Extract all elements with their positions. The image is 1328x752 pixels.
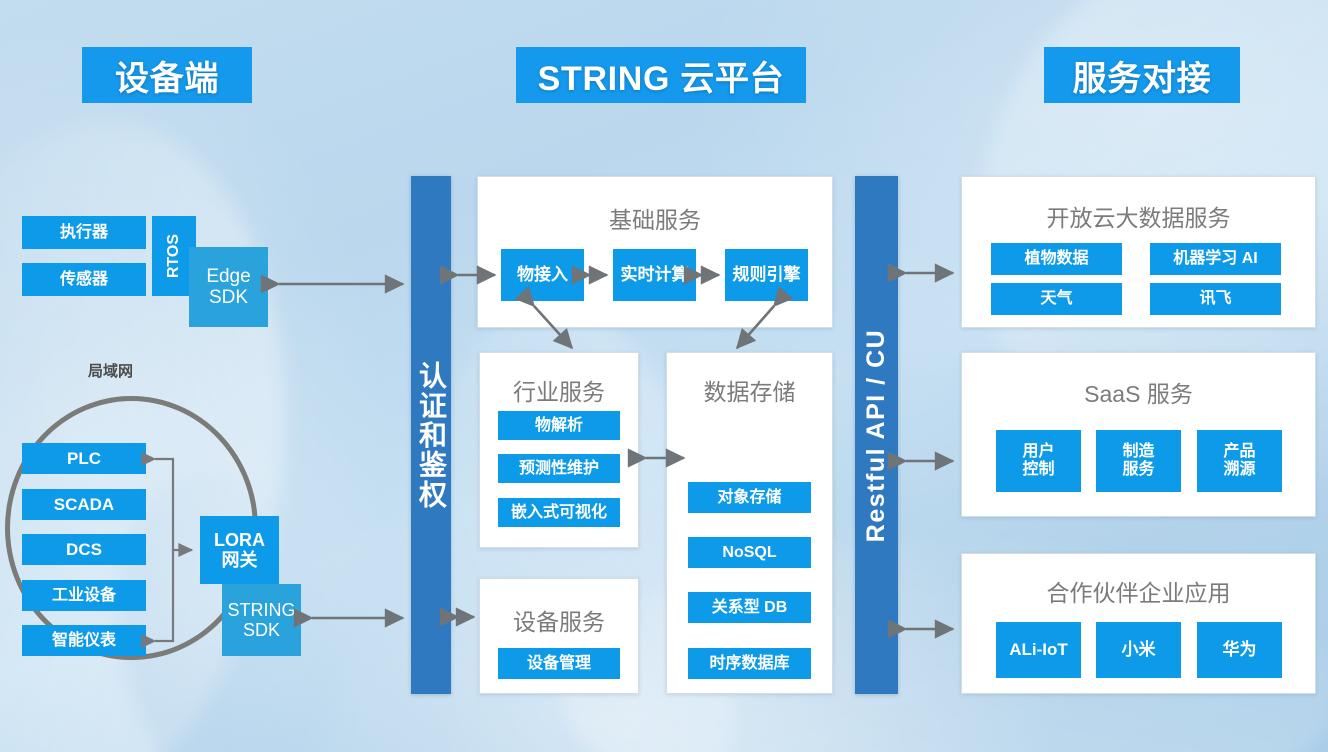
panel-partner-apps-title: 合作伙伴企业应用 [962,574,1315,608]
industry-box-thing-parsing[interactable]: 物解析 [498,411,620,440]
saas-manufacturing-line2: 服务 [1122,461,1154,479]
service-box-realtime-compute[interactable]: 实时计算 [613,249,696,301]
lora-gateway-label-line2: 网关 [222,550,258,570]
lan-label: 局域网 [88,360,133,381]
storage-box-object-storage[interactable]: 对象存储 [688,482,811,513]
diagram-canvas: 设备端 STRING 云平台 服务对接 执行器 传感器 RTOS Edge SD… [0,0,1328,752]
storage-box-relational-db[interactable]: 关系型 DB [688,592,811,623]
header-device-side: 设备端 [82,47,252,103]
lora-gateway-label-line1: LORA [214,530,265,550]
header-cloud-platform: STRING 云平台 [516,47,806,103]
restful-api-bar-label: Restful API / CU [862,328,891,541]
device-box-dcs[interactable]: DCS [22,534,146,565]
saas-user-control-line2: 控制 [1022,461,1054,479]
restful-api-bar[interactable]: Restful API / CU [855,176,898,694]
auth-bar[interactable]: 认证和鉴权 [411,176,451,694]
saas-box-product-traceability[interactable]: 产品 溯源 [1197,430,1282,492]
partner-box-ali-iot[interactable]: ALi-IoT [996,622,1081,678]
panel-device-services-title: 设备服务 [480,603,638,637]
device-box-string-sdk[interactable]: STRING SDK [222,584,301,656]
auth-bar-label: 认证和鉴权 [411,361,451,509]
saas-traceability-line1: 产品 [1223,443,1255,461]
device-box-lora-gateway[interactable]: LORA 网关 [200,516,279,584]
storage-box-timeseries-db[interactable]: 时序数据库 [688,648,811,679]
saas-box-manufacturing-service[interactable]: 制造 服务 [1096,430,1181,492]
device-box-plc[interactable]: PLC [22,443,146,474]
panel-data-storage: 数据存储 [666,352,833,694]
industry-box-predictive-maintenance[interactable]: 预测性维护 [498,454,620,483]
string-sdk-label-line2: SDK [243,620,280,640]
device-box-smart-meter[interactable]: 智能仪表 [22,625,146,656]
saas-user-control-line1: 用户 [1022,443,1054,461]
opencloud-box-iflytek[interactable]: 讯飞 [1150,283,1281,315]
device-box-scada[interactable]: SCADA [22,489,146,520]
panel-industry-services-title: 行业服务 [480,373,638,407]
rtos-label: RTOS [165,234,183,278]
header-service-integration: 服务对接 [1044,47,1240,103]
device-box-sensor[interactable]: 传感器 [22,263,146,296]
panel-data-storage-title: 数据存储 [667,373,832,407]
saas-manufacturing-line1: 制造 [1122,443,1154,461]
opencloud-box-weather[interactable]: 天气 [991,283,1122,315]
opencloud-box-plant-data[interactable]: 植物数据 [991,243,1122,275]
panel-open-cloud-bigdata-title: 开放云大数据服务 [962,199,1315,233]
edge-sdk-label-line2: SDK [209,287,248,308]
device-box-edge-sdk[interactable]: Edge SDK [189,247,268,327]
edge-sdk-label-line1: Edge [206,266,250,287]
panel-basic-services-title: 基础服务 [478,201,832,235]
device-box-actuator[interactable]: 执行器 [22,216,146,249]
partner-box-huawei[interactable]: 华为 [1197,622,1282,678]
device-service-box-device-management[interactable]: 设备管理 [498,648,620,679]
service-box-rule-engine[interactable]: 规则引擎 [725,249,808,301]
saas-traceability-line2: 溯源 [1223,461,1255,479]
device-box-industrial-equipment[interactable]: 工业设备 [22,580,146,611]
storage-box-nosql[interactable]: NoSQL [688,537,811,568]
saas-box-user-control[interactable]: 用户 控制 [996,430,1081,492]
industry-box-embedded-visualization[interactable]: 嵌入式可视化 [498,498,620,527]
string-sdk-label-line1: STRING [227,600,295,620]
panel-saas-services-title: SaaS 服务 [962,375,1315,409]
opencloud-box-machine-learning-ai[interactable]: 机器学习 AI [1150,243,1281,275]
service-box-thing-access[interactable]: 物接入 [501,249,584,301]
partner-box-xiaomi[interactable]: 小米 [1096,622,1181,678]
